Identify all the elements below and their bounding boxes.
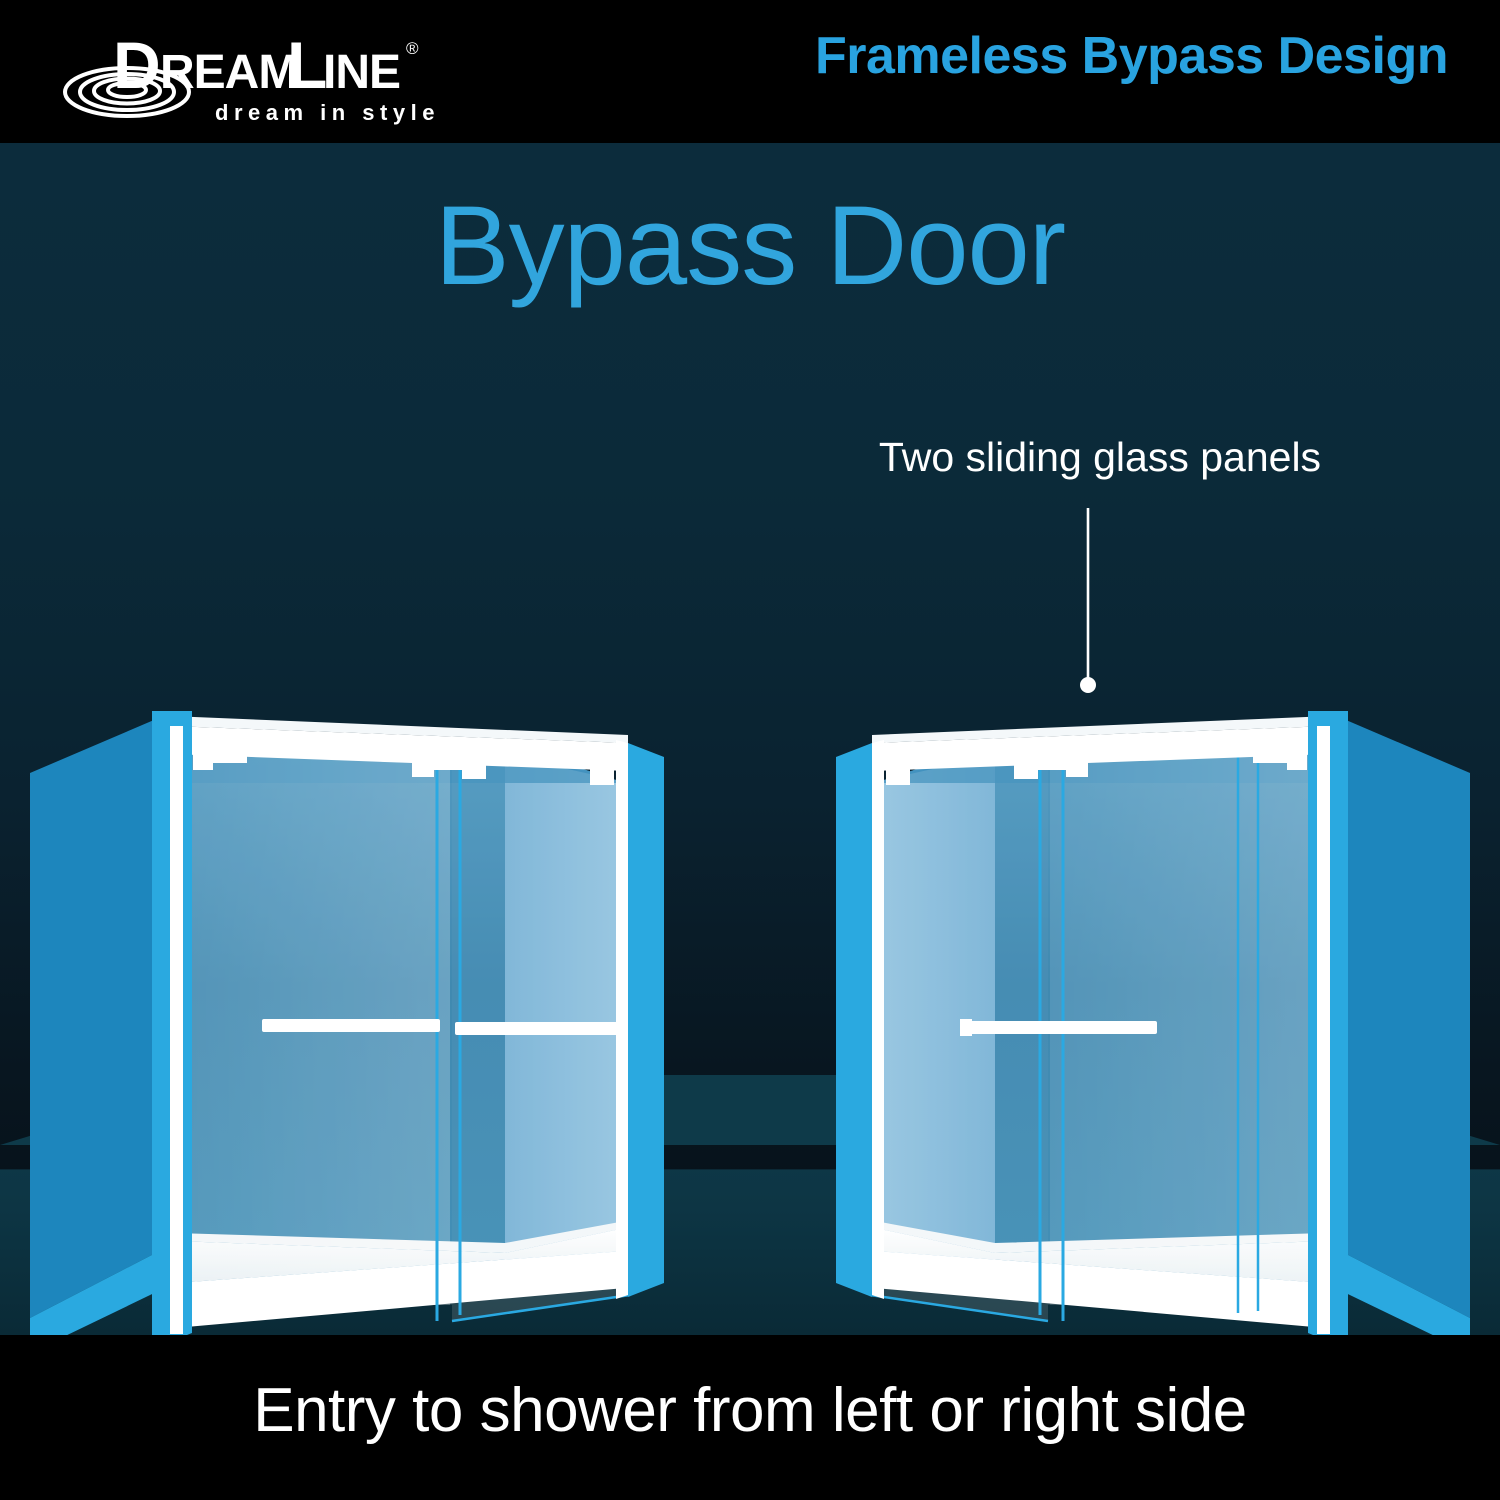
- right-roller-bracket-1: [1287, 754, 1307, 770]
- callout-dot-icon: [1080, 677, 1096, 693]
- right-roller-bracket-2: [1253, 754, 1287, 763]
- annotation-label: Two sliding glass panels: [760, 435, 1440, 480]
- left-handle-bar-1: [262, 1019, 440, 1032]
- left-roller-bracket-4: [434, 761, 462, 770]
- left-roller-bracket-2: [213, 754, 247, 763]
- right-handle-mount: [960, 1019, 972, 1036]
- bottom-caption: Entry to shower from left or right side: [0, 1380, 1500, 1442]
- left-handle-bar-2: [455, 1022, 623, 1035]
- callout-leader: [1078, 508, 1098, 698]
- dreamline-logo-svg: D REAM L INE ® dream in style: [55, 18, 475, 128]
- dreamline-logo[interactable]: D REAM L INE ® dream in style: [55, 18, 475, 128]
- left-jamb-trim-left: [170, 726, 183, 1334]
- logo-registered-mark: ®: [406, 39, 419, 58]
- header-tagline: Frameless Bypass Design: [815, 30, 1448, 82]
- right-jamb-post-left: [836, 743, 872, 1297]
- right-roller-bracket-5: [1014, 763, 1038, 779]
- enclosures-svg: [0, 143, 1500, 1335]
- right-enclosure: [836, 711, 1470, 1335]
- right-jamb-trim-left: [872, 740, 884, 1299]
- logo-wordmark-ine: INE: [323, 46, 400, 99]
- right-roller-bracket-4: [1038, 761, 1066, 770]
- left-roller-bracket-6: [590, 768, 614, 785]
- poster-canvas: Bypass Door Two sliding glass panels Ent…: [0, 0, 1500, 1500]
- left-roller-bracket-3: [412, 761, 434, 777]
- left-roller-bracket-1: [193, 754, 213, 770]
- logo-wordmark-d: D: [113, 28, 161, 102]
- right-handle-bar-1: [962, 1021, 1157, 1034]
- left-roller-bracket-5: [462, 763, 486, 779]
- right-roller-bracket-3: [1066, 761, 1088, 777]
- left-enclosure: [30, 711, 664, 1335]
- left-jamb-trim-right: [616, 740, 628, 1299]
- right-roller-bracket-6: [886, 768, 910, 785]
- logo-wordmark-ream: REAM: [160, 46, 297, 99]
- header-band: D REAM L INE ® dream in style Frameless …: [0, 0, 1500, 143]
- left-jamb-post-right: [628, 743, 664, 1297]
- illustration-scene: [0, 143, 1500, 1335]
- logo-tagline: dream in style: [215, 100, 440, 125]
- page-title: Bypass Door: [0, 190, 1500, 302]
- logo-wordmark-l: L: [287, 28, 327, 102]
- right-jamb-trim-right: [1317, 726, 1330, 1334]
